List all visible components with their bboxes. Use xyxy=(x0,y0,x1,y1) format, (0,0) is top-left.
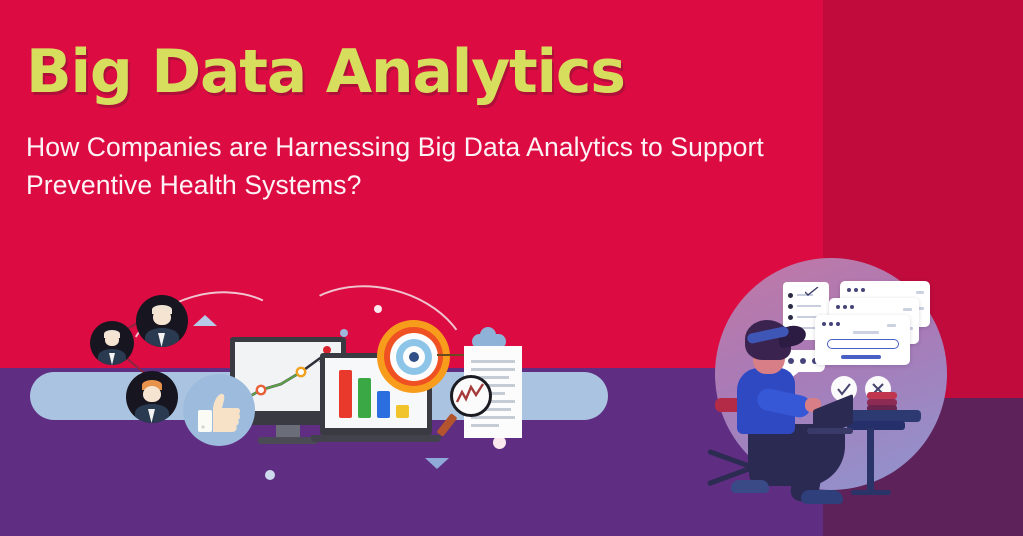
magnifier-icon[interactable] xyxy=(450,375,492,417)
arc-end-dot-5 xyxy=(265,470,275,480)
illustration-right xyxy=(715,258,951,518)
arc-end-dot-3 xyxy=(340,329,348,337)
chevron-down-icon xyxy=(425,458,449,469)
avatar-network-node-1[interactable] xyxy=(136,295,188,347)
person-laptop xyxy=(807,402,851,434)
bar-chart-bar xyxy=(339,370,352,418)
person-shoe-front xyxy=(801,490,843,504)
target-bullseye-icon[interactable] xyxy=(377,320,450,393)
bar-chart-bar xyxy=(377,391,390,418)
banner-root: Big Data Analytics How Companies are Har… xyxy=(0,0,1023,536)
avatar-network-node-2[interactable] xyxy=(90,321,134,365)
page-subtitle: How Companies are Harnessing Big Data An… xyxy=(26,129,796,204)
bar-chart-bar xyxy=(396,405,409,418)
thumbs-up-icon[interactable] xyxy=(198,393,242,433)
side-table-apron xyxy=(847,421,905,430)
side-table-foot xyxy=(851,490,891,495)
chevron-up-icon xyxy=(193,315,217,326)
headline-block: Big Data Analytics How Companies are Har… xyxy=(26,42,796,204)
person-shoe-back xyxy=(731,480,769,493)
side-table-books xyxy=(867,392,897,411)
seated-person-with-laptop xyxy=(723,314,853,504)
bar-chart-bar xyxy=(358,378,371,418)
laptop-deck xyxy=(311,435,441,442)
side-table-post xyxy=(867,428,874,492)
monitor-base xyxy=(258,437,318,444)
checkmark-icon xyxy=(805,287,819,296)
page-title: Big Data Analytics xyxy=(26,42,796,103)
arc-end-dot-2 xyxy=(374,305,382,313)
illustration-left xyxy=(0,255,660,536)
avatar-network-node-3[interactable] xyxy=(126,371,178,423)
